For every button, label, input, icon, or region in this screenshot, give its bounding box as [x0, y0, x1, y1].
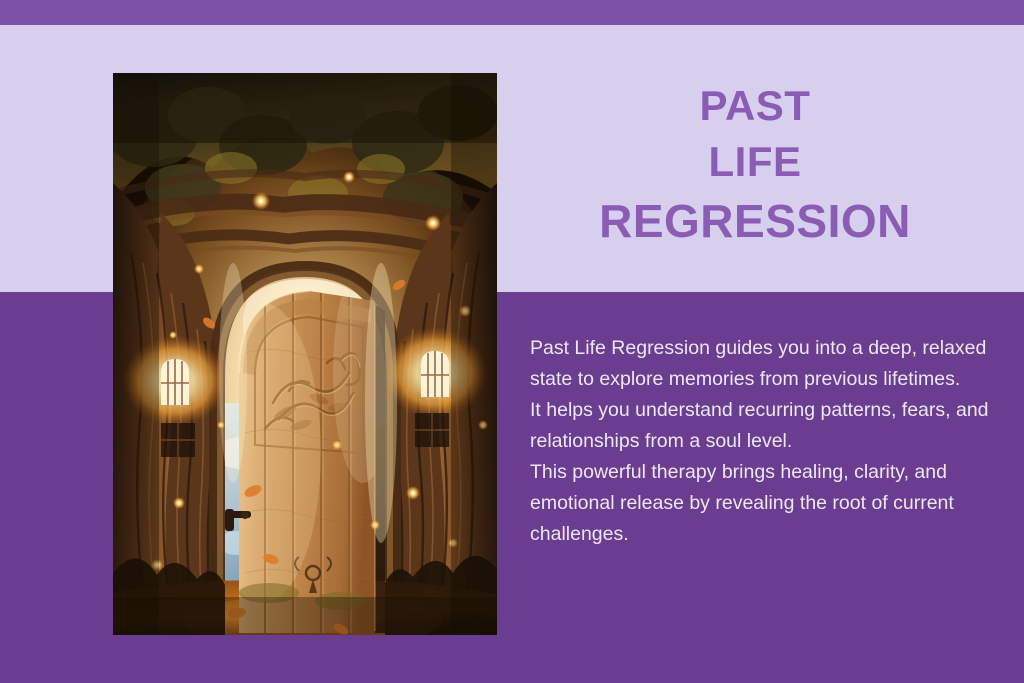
- title-line-3: REGRESSION: [520, 191, 990, 253]
- poster-canvas: PAST LIFE REGRESSION Past Life Regressio…: [0, 0, 1024, 683]
- past-life-door-artwork: [113, 73, 497, 635]
- top-purple-band: [0, 0, 1024, 25]
- page-title: PAST LIFE REGRESSION: [520, 78, 990, 252]
- description-paragraph-3: This powerful therapy brings healing, cl…: [530, 457, 1010, 550]
- title-line-2: LIFE: [520, 134, 990, 190]
- title-line-1: PAST: [520, 78, 990, 134]
- description-paragraph-2: It helps you understand recurring patter…: [530, 395, 1010, 457]
- description-block: Past Life Regression guides you into a d…: [530, 333, 1010, 550]
- description-paragraph-1: Past Life Regression guides you into a d…: [530, 333, 1010, 395]
